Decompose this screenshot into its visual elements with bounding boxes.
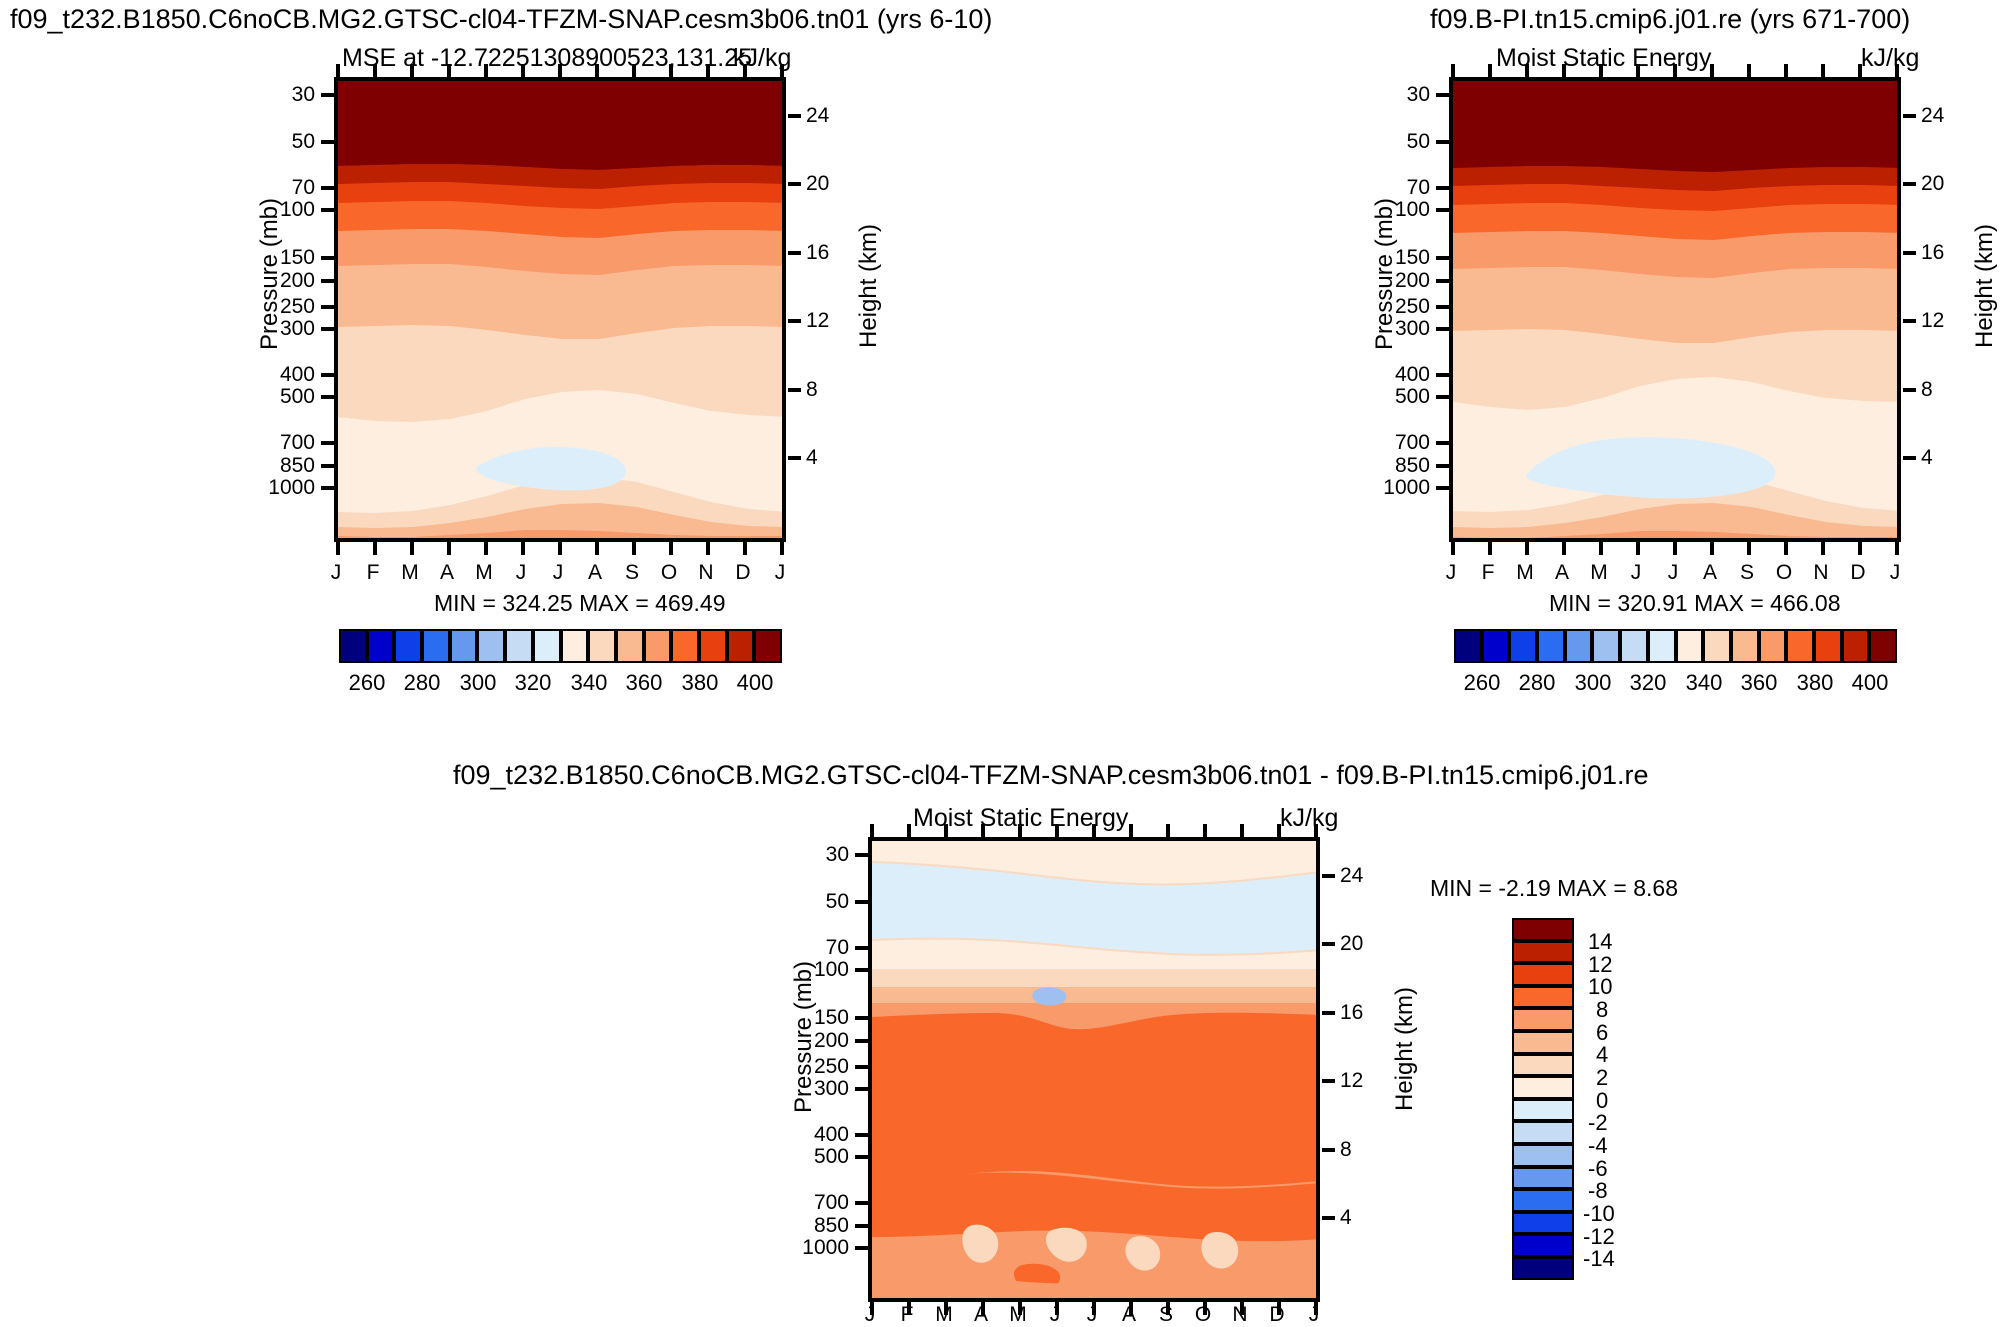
panel-2-cblabel-280: 280: [1509, 670, 1565, 696]
colorbar-cell: [754, 629, 782, 663]
panel-2-xtick-9: O: [1766, 561, 1802, 585]
panel-3-y2tick-24: 24: [1340, 864, 1363, 888]
panel-2-xtick-2: M: [1507, 561, 1543, 585]
panel-1-cblabel-320: 320: [505, 670, 561, 696]
panel-3-ytick-1000: 1000: [763, 1236, 849, 1260]
colorbar-cell: [1592, 629, 1620, 663]
panel-1-minmax: MIN = 324.25 MAX = 469.49: [434, 590, 726, 617]
panel-2-title: f09.B-PI.tn15.cmip6.j01.re (yrs 671-700): [1430, 4, 1910, 35]
panel-2-xtick-10: N: [1803, 561, 1839, 585]
panel-3-ytick-200: 200: [763, 1029, 849, 1053]
panel-2-cblabel-340: 340: [1676, 670, 1732, 696]
colorbar-cell: [1512, 1099, 1574, 1122]
colorbar-cell: [1512, 1212, 1574, 1235]
panel-3-xtick-0: J: [852, 1303, 888, 1327]
panel-2-ytick-50: 50: [1344, 130, 1430, 154]
panel-2-plot: [1449, 77, 1901, 542]
panel-2-xtick-8: S: [1729, 561, 1765, 585]
colorbar-cell: [1512, 986, 1574, 1009]
panel-3-y2tick-16: 16: [1340, 1001, 1363, 1025]
panel-2-xtick-5: J: [1618, 561, 1654, 585]
colorbar-cell: [1512, 1008, 1574, 1031]
panel-3-y2tick-12: 12: [1340, 1069, 1363, 1093]
panel-3-ytick-300: 300: [763, 1077, 849, 1101]
panel-3-y2-axis-title: Height (km): [1391, 987, 1419, 1111]
colorbar-cell: [505, 629, 533, 663]
colorbar-cell: [450, 629, 478, 663]
panel-3-xtick-6: J: [1074, 1303, 1110, 1327]
panel-2-xtick-0: J: [1433, 561, 1469, 585]
colorbar-cell: [1537, 629, 1565, 663]
colorbar-cell: [644, 629, 672, 663]
colorbar-cell: [699, 629, 727, 663]
panel-1-xtick-4: M: [466, 561, 502, 585]
colorbar-cell: [1703, 629, 1731, 663]
panel-3-xtick-12: J: [1296, 1303, 1332, 1327]
panel-3-xtick-1: F: [889, 1303, 925, 1327]
panel-1-ytick-1000: 1000: [229, 476, 315, 500]
panel-2-subtitle-right: kJ/kg: [1861, 44, 1919, 73]
colorbar-cell: [1512, 963, 1574, 986]
panel-3-y2tick-8: 8: [1340, 1138, 1352, 1162]
panel-1-y2-axis-title: Height (km): [855, 224, 883, 348]
colorbar-cell: [616, 629, 644, 663]
panel-3-xtick-9: O: [1185, 1303, 1221, 1327]
panel-2-y2tick-4: 4: [1921, 446, 1933, 470]
colorbar-cell: [1512, 1054, 1574, 1077]
panel-1-cblabel-280: 280: [394, 670, 450, 696]
panel-2-cblabel-300: 300: [1565, 670, 1621, 696]
colorbar-cell: [477, 629, 505, 663]
panel-1-ytick-500: 500: [229, 385, 315, 409]
panel-3-xtick-11: D: [1259, 1303, 1295, 1327]
panel-2-cblabel-320: 320: [1620, 670, 1676, 696]
panel-3-xtick-5: J: [1037, 1303, 1073, 1327]
panel-3-ytick-250: 250: [763, 1055, 849, 1079]
panel-2-ytick-500: 500: [1344, 385, 1430, 409]
panel-1-cblabel-400: 400: [727, 670, 783, 696]
panel-3-minmax: MIN = -2.19 MAX = 8.68: [1430, 875, 1678, 902]
colorbar-cell: [1759, 629, 1787, 663]
panel-1-xtick-2: M: [392, 561, 428, 585]
panel-1-y2tick-12: 12: [806, 309, 829, 333]
panel-1-ytick-700: 700: [229, 431, 315, 455]
colorbar-cell: [394, 629, 422, 663]
panel-2-xtick-7: A: [1692, 561, 1728, 585]
panel-1-cblabel-380: 380: [672, 670, 728, 696]
colorbar-cell: [1509, 629, 1537, 663]
panel-1-subtitle-left: MSE at -12.72251308900523,131.25: [342, 44, 752, 73]
panel-3-ytick-100: 100: [763, 958, 849, 982]
panel-3-xtick-4: M: [1000, 1303, 1036, 1327]
panel-1-y2tick-24: 24: [806, 104, 829, 128]
panel-2-ytick-400: 400: [1344, 363, 1430, 387]
colorbar-cell: [1512, 1031, 1574, 1054]
colorbar-cell: [422, 629, 450, 663]
panel-3-ytick-850: 850: [763, 1214, 849, 1238]
panel-1-cblabel-260: 260: [339, 670, 395, 696]
panel-3-xtick-8: S: [1148, 1303, 1184, 1327]
panel-2-ytick-200: 200: [1344, 269, 1430, 293]
panel-3-ytick-30: 30: [763, 843, 849, 867]
panel-3-ytick-50: 50: [763, 890, 849, 914]
panel-2-xtick-1: F: [1470, 561, 1506, 585]
panel-1-ytick-50: 50: [229, 130, 315, 154]
panel-2-y2tick-12: 12: [1921, 309, 1944, 333]
panel-2-y2tick-24: 24: [1921, 104, 1944, 128]
colorbar-cell: [1512, 918, 1574, 941]
panel-2-xtick-3: A: [1544, 561, 1580, 585]
panel-2-y2tick-16: 16: [1921, 241, 1944, 265]
panel-1-xtick-9: O: [651, 561, 687, 585]
panel-1-ytick-400: 400: [229, 363, 315, 387]
colorbar-cell: [367, 629, 395, 663]
colorbar-cell: [1454, 629, 1482, 663]
panel-2-y2tick-20: 20: [1921, 172, 1944, 196]
colorbar-cell: [339, 629, 367, 663]
panel-2-cblabel-360: 360: [1731, 670, 1787, 696]
panel-1-colorbar: [339, 629, 782, 663]
panel-3-contour-field: [872, 841, 1320, 1302]
panel-1-cblabel-360: 360: [616, 670, 672, 696]
panel-1-plot: [334, 77, 786, 542]
panel-1-xtick-0: J: [318, 561, 354, 585]
panel-1-title: f09_t232.B1850.C6noCB.MG2.GTSC-cl04-TFZM…: [10, 4, 992, 35]
panel-1-xtick-8: S: [614, 561, 650, 585]
panel-2-cblabel-260: 260: [1454, 670, 1510, 696]
panel-1-ytick-30: 30: [229, 83, 315, 107]
panel-2-y2tick-8: 8: [1921, 378, 1933, 402]
panel-2-ytick-300: 300: [1344, 317, 1430, 341]
panel-2-xtick-12: J: [1877, 561, 1913, 585]
colorbar-cell: [1512, 1234, 1574, 1257]
panel-3-y2tick-20: 20: [1340, 932, 1363, 956]
panel-2-y2-axis-title: Height (km): [1971, 224, 1999, 348]
panel-1-y2tick-20: 20: [806, 172, 829, 196]
colorbar-cell: [1565, 629, 1593, 663]
panel-1-xtick-10: N: [688, 561, 724, 585]
panel-1-xtick-12: J: [762, 561, 798, 585]
panel-2-xtick-11: D: [1840, 561, 1876, 585]
panel-1-ytick-200: 200: [229, 269, 315, 293]
colorbar-cell: [1512, 1189, 1574, 1212]
colorbar-cell: [1512, 941, 1574, 964]
panel-3-cblabel-m14: -14: [1583, 1246, 1615, 1272]
panel-1-ytick-300: 300: [229, 317, 315, 341]
panel-2-minmax: MIN = 320.91 MAX = 466.08: [1549, 590, 1841, 617]
panel-3-ytick-700: 700: [763, 1191, 849, 1215]
panel-2-ytick-700: 700: [1344, 431, 1430, 455]
panel-1-xtick-5: J: [503, 561, 539, 585]
panel-1-y2tick-4: 4: [806, 446, 818, 470]
colorbar-cell: [561, 629, 589, 663]
colorbar-cell: [1676, 629, 1704, 663]
panel-3-xtick-2: M: [926, 1303, 962, 1327]
panel-2-ytick-100: 100: [1344, 198, 1430, 222]
panel-1-y2tick-16: 16: [806, 241, 829, 265]
panel-2-xtick-4: M: [1581, 561, 1617, 585]
panel-1-xtick-7: A: [577, 561, 613, 585]
panel-2-ytick-850: 850: [1344, 454, 1430, 478]
colorbar-cell: [1814, 629, 1842, 663]
panel-1-xtick-3: A: [429, 561, 465, 585]
panel-2-ytick-70: 70: [1344, 176, 1430, 200]
panel-2-cblabel-400: 400: [1842, 670, 1898, 696]
panel-1-xtick-1: F: [355, 561, 391, 585]
panel-1-cblabel-300: 300: [450, 670, 506, 696]
panel-1-xtick-11: D: [725, 561, 761, 585]
panel-3-xtick-7: A: [1111, 1303, 1147, 1327]
panel-3-ytick-500: 500: [763, 1145, 849, 1169]
panel-1-y2tick-8: 8: [806, 378, 818, 402]
panel-1-ytick-850: 850: [229, 454, 315, 478]
panel-2-colorbar: [1454, 629, 1897, 663]
panel-3-ytick-400: 400: [763, 1123, 849, 1147]
colorbar-cell: [533, 629, 561, 663]
colorbar-cell: [1482, 629, 1510, 663]
panel-2-ytick-250: 250: [1344, 295, 1430, 319]
panel-3-plot: [868, 837, 1320, 1302]
colorbar-cell: [1512, 1076, 1574, 1099]
panel-2-contour-field: [1453, 81, 1901, 542]
colorbar-cell: [727, 629, 755, 663]
panel-3-xtick-3: A: [963, 1303, 999, 1327]
colorbar-cell: [1620, 629, 1648, 663]
panel-2-cblabel-380: 380: [1787, 670, 1843, 696]
colorbar-cell: [1731, 629, 1759, 663]
panel-2-ytick-150: 150: [1344, 246, 1430, 270]
colorbar-cell: [1786, 629, 1814, 663]
colorbar-cell: [1869, 629, 1897, 663]
colorbar-cell: [671, 629, 699, 663]
panel-3-subtitle-right: kJ/kg: [1280, 804, 1338, 833]
colorbar-cell: [1512, 1167, 1574, 1190]
panel-1-ytick-70: 70: [229, 176, 315, 200]
panel-3-colorbar: [1512, 918, 1574, 1280]
panel-1-xtick-6: J: [540, 561, 576, 585]
panel-1-cblabel-340: 340: [561, 670, 617, 696]
colorbar-cell: [1512, 1257, 1574, 1280]
panel-1-ytick-150: 150: [229, 246, 315, 270]
panel-3-xtick-10: N: [1222, 1303, 1258, 1327]
panel-1-ytick-100: 100: [229, 198, 315, 222]
colorbar-cell: [1648, 629, 1676, 663]
panel-3-ytick-70: 70: [763, 936, 849, 960]
colorbar-cell: [1512, 1144, 1574, 1167]
panel-3-ytick-150: 150: [763, 1006, 849, 1030]
colorbar-cell: [588, 629, 616, 663]
colorbar-cell: [1842, 629, 1870, 663]
panel-2-xtick-6: J: [1655, 561, 1691, 585]
panel-3-y2tick-4: 4: [1340, 1206, 1352, 1230]
panel-2-ytick-1000: 1000: [1344, 476, 1430, 500]
panel-2-ytick-30: 30: [1344, 83, 1430, 107]
panel-3-title: f09_t232.B1850.C6noCB.MG2.GTSC-cl04-TFZM…: [453, 760, 1649, 791]
panel-1-ytick-250: 250: [229, 295, 315, 319]
colorbar-cell: [1512, 1121, 1574, 1144]
panel-1-contour-field: [338, 81, 786, 542]
